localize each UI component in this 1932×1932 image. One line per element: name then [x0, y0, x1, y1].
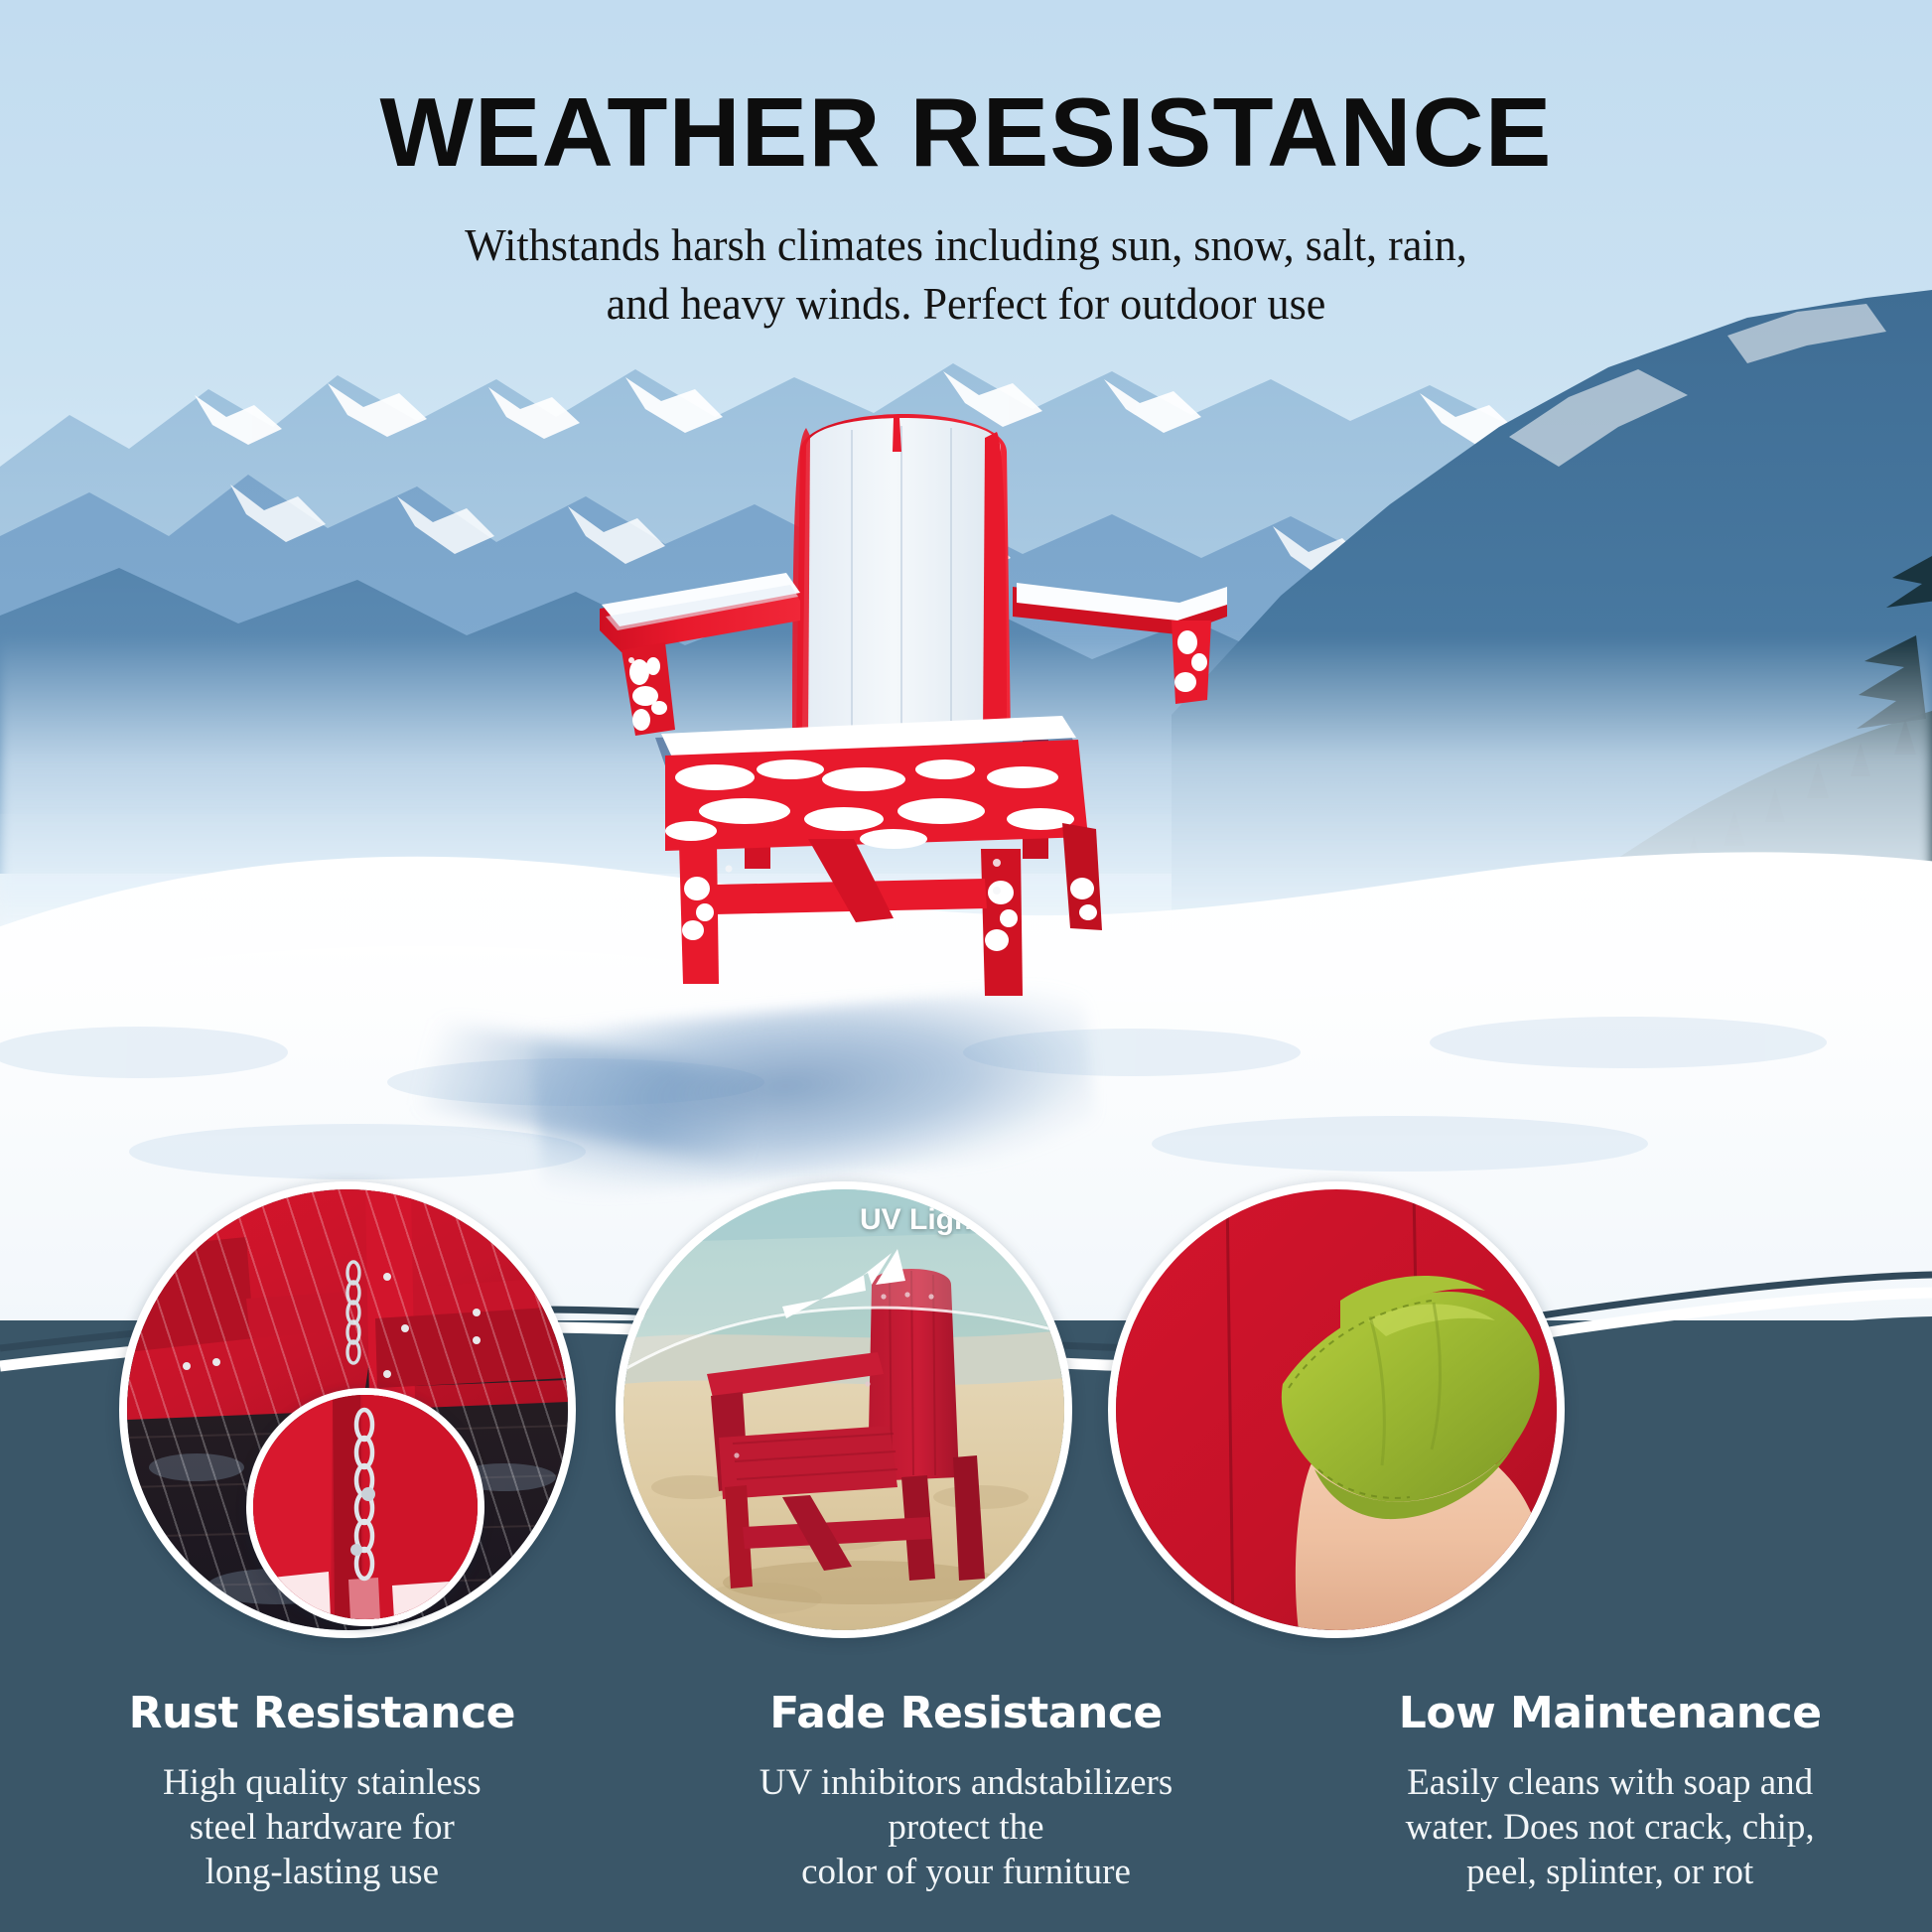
feature-body-line: protect the — [662, 1805, 1271, 1850]
feature-body-maintenance: Easily cleans with soap and water. Does … — [1306, 1760, 1914, 1894]
feature-body-rust: High quality stainless steel hardware fo… — [18, 1760, 626, 1894]
feature-body-line: peel, splinter, or rot — [1306, 1850, 1914, 1894]
feature-column-rust: Rust Resistance High quality stainless s… — [0, 1688, 644, 1932]
feature-body-line: long-lasting use — [18, 1850, 626, 1894]
feature-title-fade: Fade Resistance — [662, 1688, 1271, 1738]
feature-title-maintenance: Low Maintenance — [1306, 1688, 1914, 1738]
low-maintenance-image — [1108, 1181, 1565, 1638]
feature-column-maintenance: Low Maintenance Easily cleans with soap … — [1288, 1688, 1932, 1932]
feature-body-line: color of your furniture — [662, 1850, 1271, 1894]
feature-body-line: water. Does not crack, chip, — [1306, 1805, 1914, 1850]
page-title: WEATHER RESISTANCE — [0, 83, 1932, 181]
feature-title-rust: Rust Resistance — [18, 1688, 626, 1738]
page-subtitle: Withstands harsh climates including sun,… — [39, 216, 1893, 334]
feature-body-line: High quality stainless — [18, 1760, 626, 1805]
feature-body-line: Easily cleans with soap and — [1306, 1760, 1914, 1805]
infographic-canvas: WEATHER RESISTANCE Withstands harsh clim… — [0, 0, 1932, 1932]
rust-resistance-inset-image — [246, 1388, 484, 1626]
fade-resistance-image: UV Light — [616, 1181, 1072, 1638]
subtitle-line-2: and heavy winds. Perfect for outdoor use — [39, 275, 1893, 334]
subtitle-line-1: Withstands harsh climates including sun,… — [39, 216, 1893, 275]
feature-column-fade: Fade Resistance UV inhibitors andstabili… — [644, 1688, 1289, 1932]
feature-body-fade: UV inhibitors andstabilizers protect the… — [662, 1760, 1271, 1894]
header: WEATHER RESISTANCE Withstands harsh clim… — [0, 0, 1932, 334]
feature-body-line: steel hardware for — [18, 1805, 626, 1850]
uv-light-label: UV Light — [860, 1203, 982, 1237]
feature-columns: Rust Resistance High quality stainless s… — [0, 1688, 1932, 1932]
feature-body-line: UV inhibitors andstabilizers — [662, 1760, 1271, 1805]
uv-light-arrow-icon — [780, 1241, 919, 1330]
